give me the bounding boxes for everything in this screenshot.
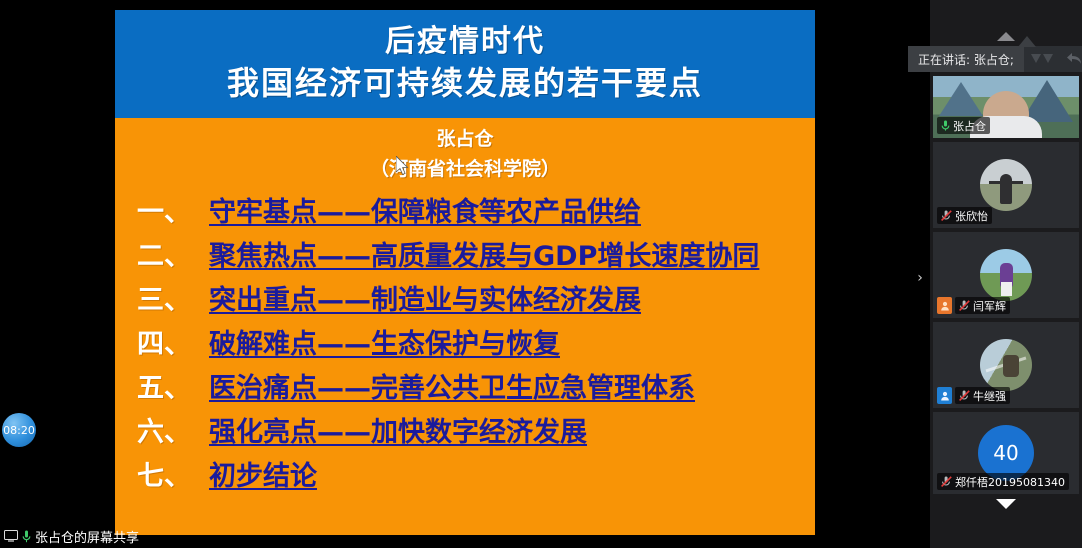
reply-arrow-icon[interactable]	[1066, 50, 1082, 69]
presentation-slide: 后疫情时代 我国经济可持续发展的若干要点 张占仓 （河南省社会科学院） 一、 守…	[115, 10, 815, 535]
outline-item-number: 一、	[137, 190, 209, 229]
participant-name-chip: 郑仟梧20195081340	[937, 473, 1069, 490]
participant-tile[interactable]: 40 郑仟梧20195081340	[933, 412, 1079, 494]
screen-share-stage: 后疫情时代 我国经济可持续发展的若干要点 张占仓 （河南省社会科学院） 一、 守…	[0, 0, 930, 548]
outline-item-text: 初步结论	[209, 454, 317, 493]
slide-affiliation: （河南省社会科学院）	[115, 154, 815, 184]
microphone-on-icon	[22, 530, 31, 543]
outline-item-text: 聚焦热点——高质量发展与GDP增长速度协同	[209, 234, 759, 273]
microphone-on-icon	[941, 116, 950, 135]
participant-name: 牛继强	[973, 388, 1006, 404]
outline-item-number: 六、	[137, 410, 209, 449]
outline-item-number: 五、	[137, 366, 209, 405]
outline-item: 六、 强化亮点——加快数字经济发展	[115, 410, 815, 454]
participant-name: 张占仓	[953, 118, 986, 134]
outline-item-number: 四、	[137, 322, 209, 361]
participant-tile[interactable]: 张占仓	[933, 76, 1079, 138]
participant-tile[interactable]: 牛继强	[933, 322, 1079, 408]
participant-name-chip: 牛继强	[955, 387, 1010, 404]
participant-rail: 正在讲话: 张占仓; 张占仓 张欣怡	[930, 0, 1082, 548]
double-chevron-icon[interactable]	[1030, 50, 1056, 69]
outline-item-text: 医治痛点——完善公共卫生应急管理体系	[209, 366, 695, 405]
outline-item-number: 三、	[137, 278, 209, 317]
meeting-timer-badge: 08:20	[2, 413, 36, 447]
microphone-muted-icon	[941, 206, 952, 225]
screen-share-status-label: 张占仓的屏幕共享	[35, 527, 139, 546]
slide-outline-list: 一、 守牢基点——保障粮食等农产品供给 二、 聚焦热点——高质量发展与GDP增长…	[115, 190, 815, 498]
outline-item-number: 七、	[137, 454, 209, 493]
chevron-right-icon[interactable]: ›	[912, 265, 928, 291]
outline-item-text: 破解难点——生态保护与恢复	[209, 322, 560, 361]
host-badge-icon	[937, 297, 952, 314]
outline-item: 二、 聚焦热点——高质量发展与GDP增长速度协同	[115, 234, 815, 278]
outline-item: 三、 突出重点——制造业与实体经济发展	[115, 278, 815, 322]
participant-name-chip: 闫军辉	[955, 297, 1010, 314]
outline-item-text: 守牢基点——保障粮食等农产品供给	[209, 190, 641, 229]
outline-item: 五、 医治痛点——完善公共卫生应急管理体系	[115, 366, 815, 410]
outline-item-number: 二、	[137, 234, 209, 273]
slide-header: 后疫情时代 我国经济可持续发展的若干要点	[115, 10, 815, 118]
tooltip-arrow	[1018, 36, 1036, 47]
avatar	[980, 159, 1032, 211]
rail-scroll-up-button[interactable]	[930, 28, 1082, 44]
outline-item: 四、 破解难点——生态保护与恢复	[115, 322, 815, 366]
rail-scroll-down-button[interactable]	[930, 496, 1082, 512]
microphone-muted-icon	[959, 296, 970, 315]
participant-name: 闫军辉	[973, 298, 1006, 314]
chevron-down-icon	[996, 499, 1016, 509]
chevron-up-icon	[997, 32, 1015, 41]
slide-title-line-2: 我国经济可持续发展的若干要点	[227, 61, 703, 105]
slide-body: 张占仓 （河南省社会科学院） 一、 守牢基点——保障粮食等农产品供给 二、 聚焦…	[115, 118, 815, 535]
participant-name-chip: 张占仓	[937, 117, 990, 134]
outline-item-text: 强化亮点——加快数字经济发展	[209, 410, 587, 449]
slide-title-line-1: 后疫情时代	[385, 23, 545, 61]
screen-share-icon	[4, 530, 18, 542]
outline-item: 一、 守牢基点——保障粮食等农产品供给	[115, 190, 815, 234]
participant-badge-icon	[937, 387, 952, 404]
speaking-tooltip: 正在讲话: 张占仓;	[908, 46, 1024, 72]
participant-name: 郑仟梧20195081340	[955, 474, 1065, 490]
avatar	[980, 339, 1032, 391]
participant-name: 张欣怡	[955, 208, 988, 224]
participant-tile[interactable]: 张欣怡	[933, 142, 1079, 228]
participant-tile[interactable]: 闫军辉	[933, 232, 1079, 318]
avatar	[980, 249, 1032, 301]
slide-author: 张占仓	[115, 124, 815, 154]
participant-name-chip: 张欣怡	[937, 207, 992, 224]
outline-item: 七、 初步结论	[115, 454, 815, 498]
outline-item-text: 突出重点——制造业与实体经济发展	[209, 278, 641, 317]
microphone-muted-icon	[959, 386, 970, 405]
screen-share-status: 张占仓的屏幕共享	[4, 526, 139, 546]
microphone-muted-icon	[941, 472, 952, 491]
